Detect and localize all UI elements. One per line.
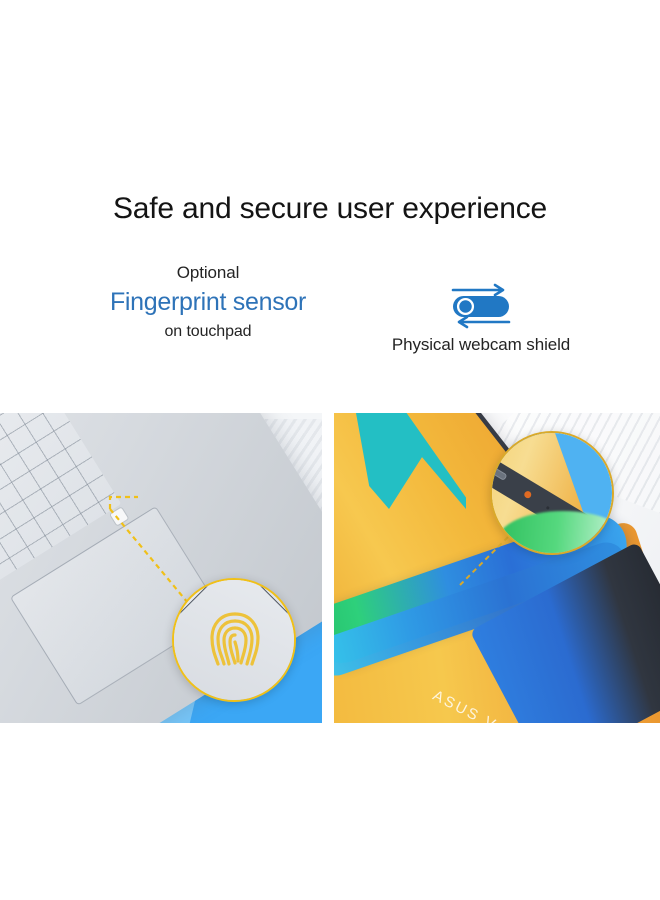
webcam-indicator-dot-icon: [546, 506, 550, 510]
fingerprint-eyebrow-label: Optional: [58, 262, 358, 283]
photo-webcam-shield: ASUS V: [334, 413, 660, 723]
webcam-shield-slider-icon: [439, 281, 523, 331]
photo-fingerprint-touchpad: [0, 413, 322, 723]
feature-fingerprint-sensor: Optional Fingerprint sensor on touchpad: [58, 262, 358, 342]
product-photo-strip: ASUS V: [0, 413, 660, 723]
feature-webcam-shield: Physical webcam shield: [358, 280, 604, 355]
feature-row: Optional Fingerprint sensor on touchpad …: [0, 262, 660, 377]
magnifier-content: [174, 580, 294, 700]
magnifier-ring: [172, 578, 296, 702]
fingerprint-magnifier: [172, 578, 296, 702]
magnifier-ring: [490, 431, 614, 555]
webcam-shield-icon-wrap: [358, 280, 604, 332]
webcam-lens-icon: [523, 490, 533, 500]
webcam-shield-magnifier: [490, 431, 614, 555]
fingerprint-subtitle: on touchpad: [58, 322, 358, 342]
page-title: Safe and secure user experience: [0, 192, 660, 227]
webcam-shield-label: Physical webcam shield: [358, 335, 604, 355]
fingerprint-icon: [204, 606, 266, 674]
magnifier-content: [492, 433, 612, 553]
fingerprint-title: Fingerprint sensor: [58, 286, 358, 319]
